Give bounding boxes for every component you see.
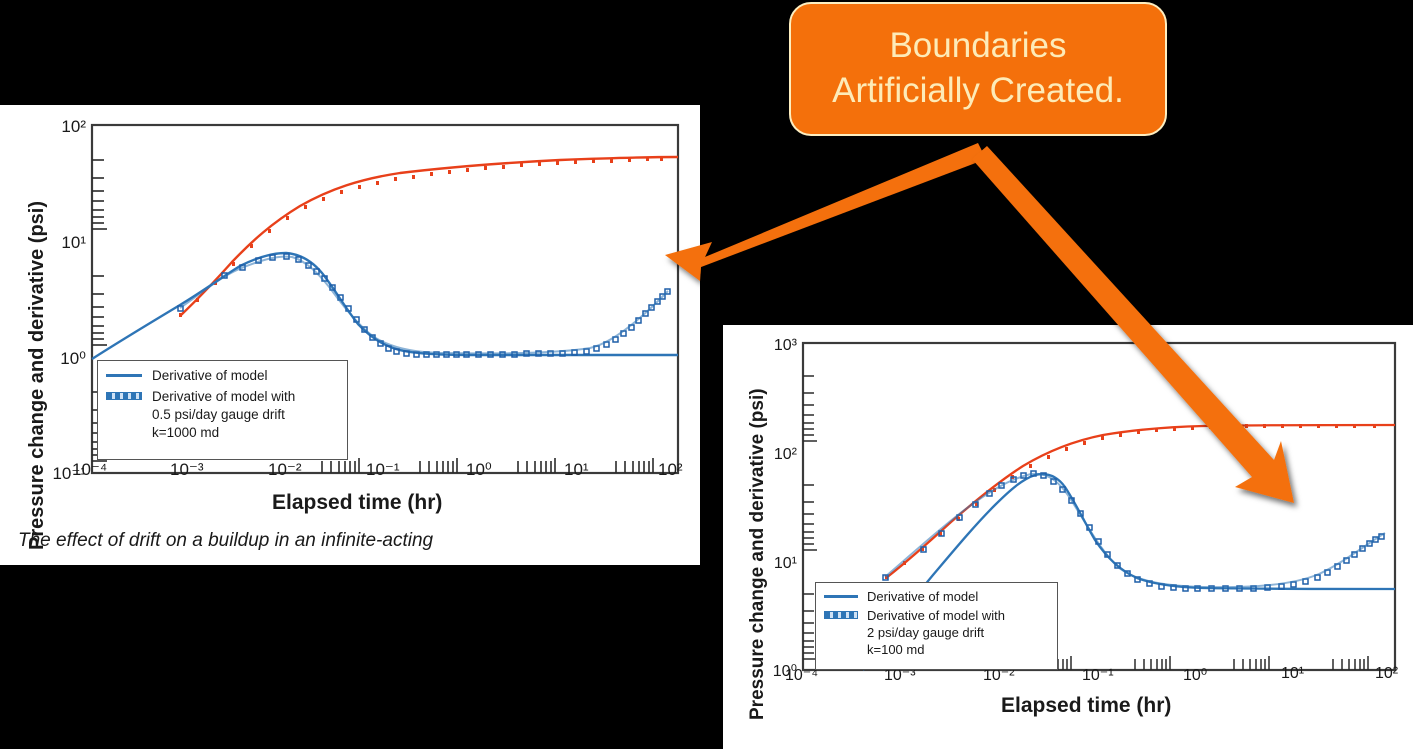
callout-line-1: Boundaries <box>889 24 1066 69</box>
left-xtick-1em3: 10⁻³ <box>170 460 204 480</box>
legend-line-swatch-icon <box>824 595 858 598</box>
right-xtick-1e1: 10¹ <box>1281 665 1304 683</box>
left-legend-entry-2-line2: 0.5 psi/day gauge drift <box>152 406 295 424</box>
right-legend-entry-1: Derivative of model <box>867 589 978 604</box>
right-legend-entry-2-line2: 2 psi/day gauge drift <box>867 625 1005 642</box>
legend-squares-swatch-icon <box>106 392 142 400</box>
left-x-tick-labels: 10⁻⁴ 10⁻³ 10⁻² 10⁻¹ 10⁰ 10¹ 10² <box>0 460 700 484</box>
arrow-to-left-chart <box>665 143 986 281</box>
left-xtick-1em4: 10⁻⁴ <box>72 460 107 480</box>
legend-line-swatch-icon <box>106 374 142 377</box>
left-xtick-1e1: 10¹ <box>564 460 589 480</box>
right-xtick-1em1: 10⁻¹ <box>1082 665 1114 685</box>
right-chart-legend: Derivative of model Derivative of model … <box>815 582 1058 670</box>
right-ytick-1e3: 10³ <box>774 337 798 354</box>
left-ytick-1e0: 10⁰ <box>60 349 86 368</box>
left-ytick-1e2: 10² <box>61 117 86 136</box>
right-y-tick-labels: 10³ 10² 10¹ 10⁰ <box>773 337 798 680</box>
callout-box[interactable]: Boundaries Artificially Created. <box>789 2 1167 136</box>
right-xtick-1e0: 10⁰ <box>1183 665 1207 685</box>
right-ytick-1e1: 10¹ <box>774 555 797 572</box>
right-xtick-1e2: 10² <box>1375 665 1398 683</box>
right-figure-panel: Pressure change and derivative (psi) 10³… <box>723 325 1413 749</box>
left-chart-x-axis-label: Elapsed time (hr) <box>272 491 442 515</box>
right-chart-x-axis-label: Elapsed time (hr) <box>1001 694 1171 718</box>
left-xtick-1e0: 10⁰ <box>466 460 492 480</box>
left-ytick-1e1: 10¹ <box>61 233 86 252</box>
legend-squares-swatch-icon <box>824 611 858 619</box>
left-chart-legend: Derivative of model Derivative of model … <box>97 360 348 460</box>
left-legend-entry-2-line1: Derivative of model with <box>152 388 295 406</box>
right-ytick-1e2: 10² <box>774 446 798 463</box>
right-legend-entry-2-line1: Derivative of model with <box>867 608 1005 625</box>
left-xtick-1em1: 10⁻¹ <box>366 460 400 480</box>
left-figure-panel: Pressure change and derivative (psi) 10²… <box>0 105 700 565</box>
callout-line-2: Artificially Created. <box>832 69 1124 114</box>
left-legend-entry-1: Derivative of model <box>152 368 268 383</box>
left-xtick-1e2: 10² <box>658 460 683 480</box>
right-legend-entry-2-line3: k=100 md <box>867 642 1005 659</box>
left-legend-entry-2-line3: k=1000 md <box>152 424 295 442</box>
right-xtick-1em4: 10⁻⁴ <box>785 665 818 685</box>
left-figure-caption: The effect of drift on a buildup in an i… <box>18 530 433 552</box>
left-y-tick-labels: 10² 10¹ 10⁰ 10⁻¹ <box>52 117 86 483</box>
left-xtick-1em2: 10⁻² <box>268 460 302 480</box>
